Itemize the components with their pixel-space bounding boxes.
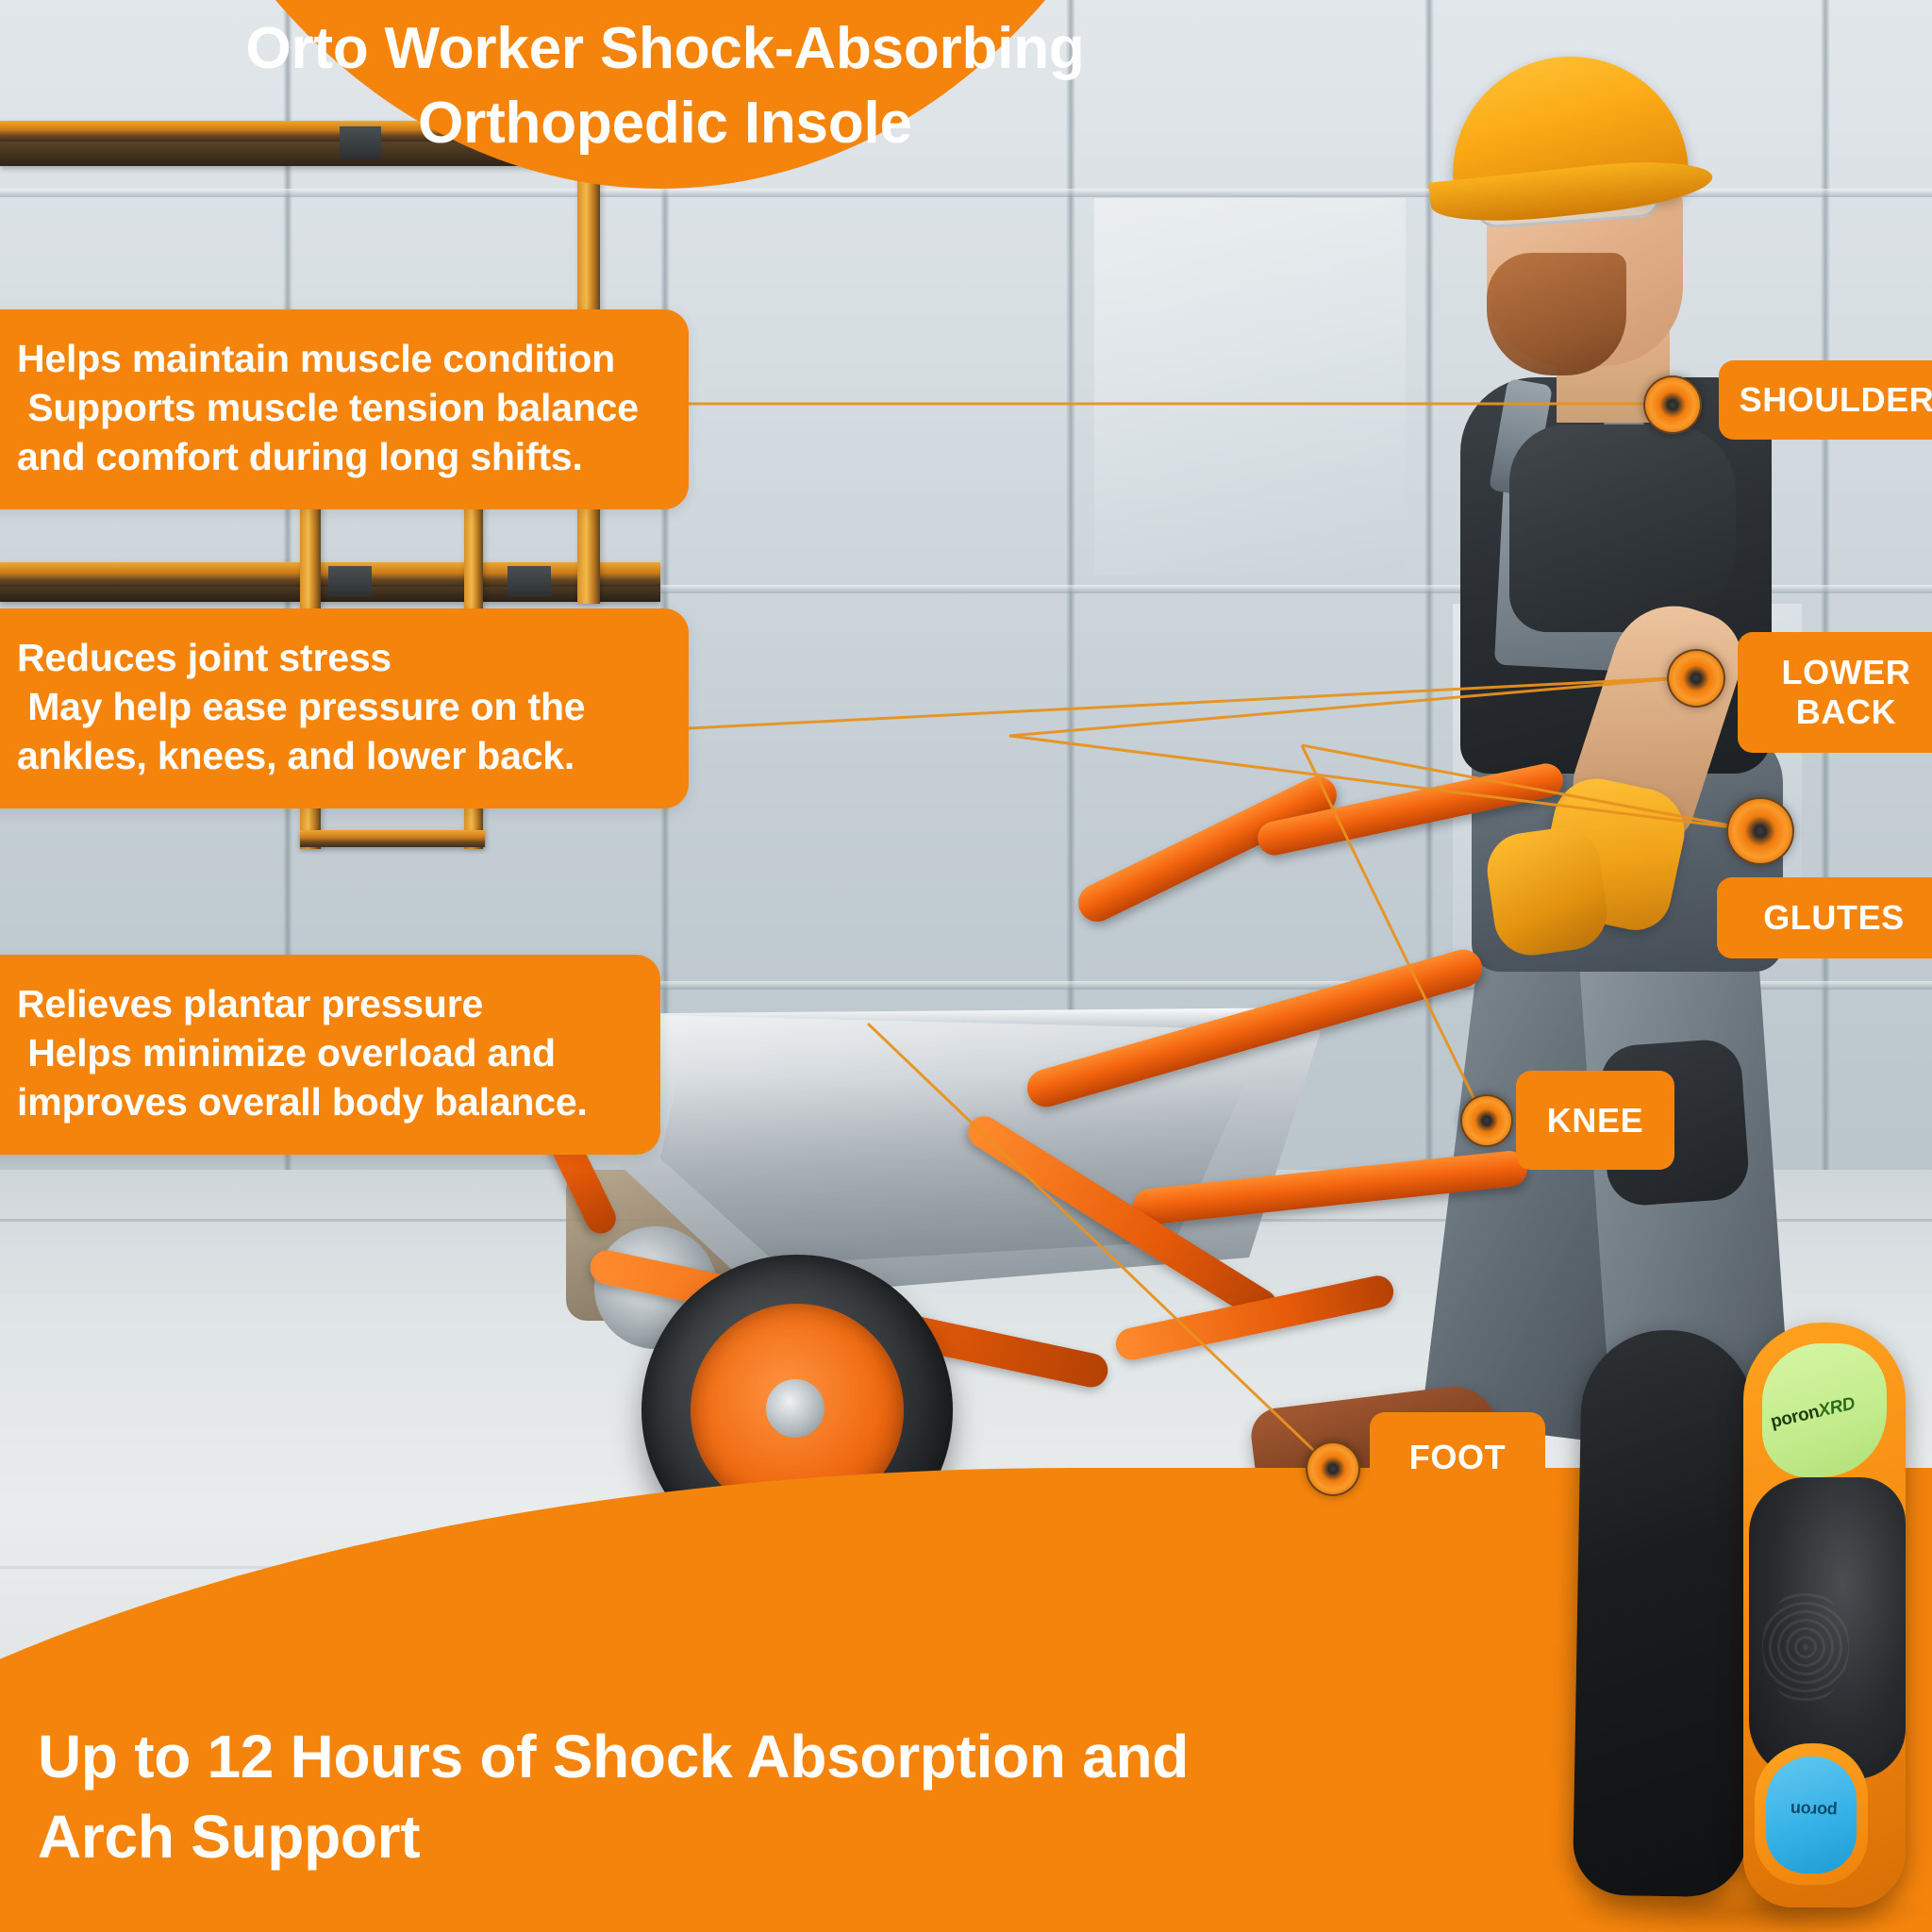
insole-bottom-view [1573, 1328, 1756, 1897]
product-insole-pair: poronXRD poron [1585, 1317, 1932, 1932]
badge-lower-back: LOWER BACK [1738, 632, 1932, 753]
line-foot [868, 1024, 1332, 1468]
body-marker-knee-icon [1460, 1094, 1513, 1147]
feature-line: ankles, knees, and lower back. [17, 731, 657, 780]
badge-foot: FOOT [1370, 1412, 1545, 1503]
badge-glutes: GLUTES [1717, 877, 1932, 958]
line-glutes-2 [1009, 736, 1755, 830]
feature-line: Helps maintain muscle condition [17, 334, 657, 383]
body-marker-lower-back-icon [1667, 649, 1725, 708]
body-marker-foot-icon [1306, 1441, 1360, 1496]
feature-line: and comfort during long shifts. [17, 432, 657, 481]
body-marker-glutes-icon [1726, 797, 1794, 865]
page-title: Orto Worker Shock-Absorbing Orthopedic I… [151, 11, 1179, 161]
feature-line: Relieves plantar pressure [17, 979, 628, 1028]
insole-heel-logo: poron [1772, 1798, 1857, 1821]
line-knee [1302, 745, 1483, 1117]
page-title-line1: Orto Worker Shock-Absorbing [151, 11, 1179, 86]
body-marker-shoulder-icon [1643, 375, 1702, 434]
page-title-line2: Orthopedic Insole [151, 86, 1179, 160]
feature-line: Reduces joint stress [17, 633, 657, 682]
feature-line: May help ease pressure on the [17, 682, 657, 731]
footer-headline-line1: Up to 12 Hours of Shock Absorption and [38, 1717, 1198, 1797]
insole-arch-support [1749, 1477, 1906, 1779]
line-glutes [1302, 745, 1755, 830]
badge-shoulder: SHOULDER [1719, 360, 1932, 440]
feature-line: Supports muscle tension balance [17, 383, 657, 432]
feature-box-plantar-pressure: Relieves plantar pressure Helps minimize… [0, 955, 660, 1155]
feature-line: Helps minimize overload and [17, 1028, 628, 1077]
badge-knee: KNEE [1516, 1071, 1674, 1170]
insole-top-view: poronXRD poron [1743, 1323, 1906, 1907]
footer-headline-line2: Arch Support [38, 1797, 1198, 1877]
feature-box-muscle-condition: Helps maintain muscle condition Supports… [0, 309, 689, 509]
feature-line: improves overall body balance. [17, 1077, 628, 1126]
feature-box-joint-stress: Reduces joint stress May help ease press… [0, 608, 689, 808]
footer-headline: Up to 12 Hours of Shock Absorption and A… [38, 1717, 1198, 1877]
